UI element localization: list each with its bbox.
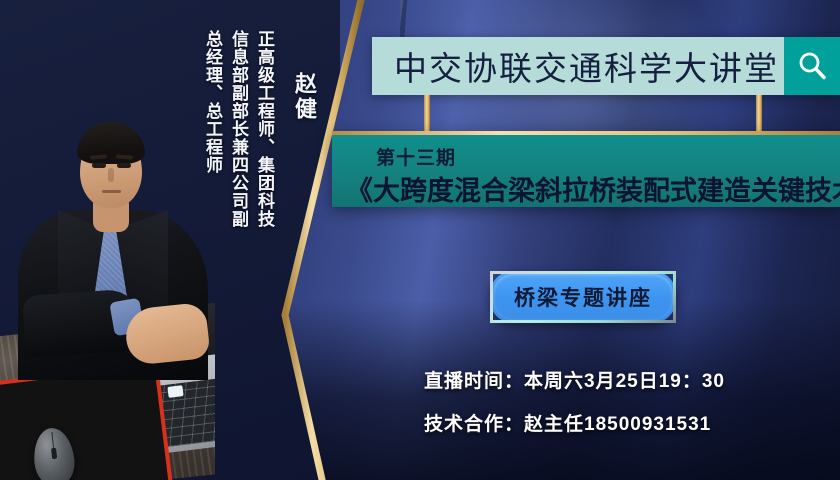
gold-post-left [424,95,430,135]
session-panel: 第十三期 《大跨度混合梁斜拉桥装配式建造关键技术》 [332,131,840,207]
eye-left [92,163,106,168]
brand-title-bar: 中交协联交通科学大讲堂 [372,37,840,95]
webinar-poster: 赵健 正高级工程师、集团科技 信息部副部长兼四公司副 总经理、总工程师 中交协联… [0,0,840,480]
session-episode: 第十三期 [376,143,456,170]
gold-chevron-divider [270,0,380,480]
speaker-title-line-1: 正高级工程师、集团科技 [252,30,277,228]
laptop-logo [167,385,183,398]
session-topic: 《大跨度混合梁斜拉桥装配式建造关键技术》 [346,169,840,208]
session-badge[interactable]: 桥梁专题讲座 [490,271,676,323]
contact-text: 技术合作：赵主任18500931531 [424,409,711,436]
hair [77,122,145,164]
speaker-name: 赵健 [288,72,320,122]
live-time-text: 直播时间：本周六3月25日19：30 [424,366,725,393]
mouth [102,190,121,193]
gold-post-right [756,95,762,135]
speaker-photo [0,110,215,480]
search-icon[interactable] [784,37,840,95]
eye-right [117,163,131,168]
speaker-title-line-3: 总经理、总工程师 [200,30,225,174]
nose [108,168,114,182]
brand-title: 中交协联交通科学大讲堂 [372,37,784,95]
speaker-title-line-2: 信息部副部长兼四公司副 [226,30,251,228]
